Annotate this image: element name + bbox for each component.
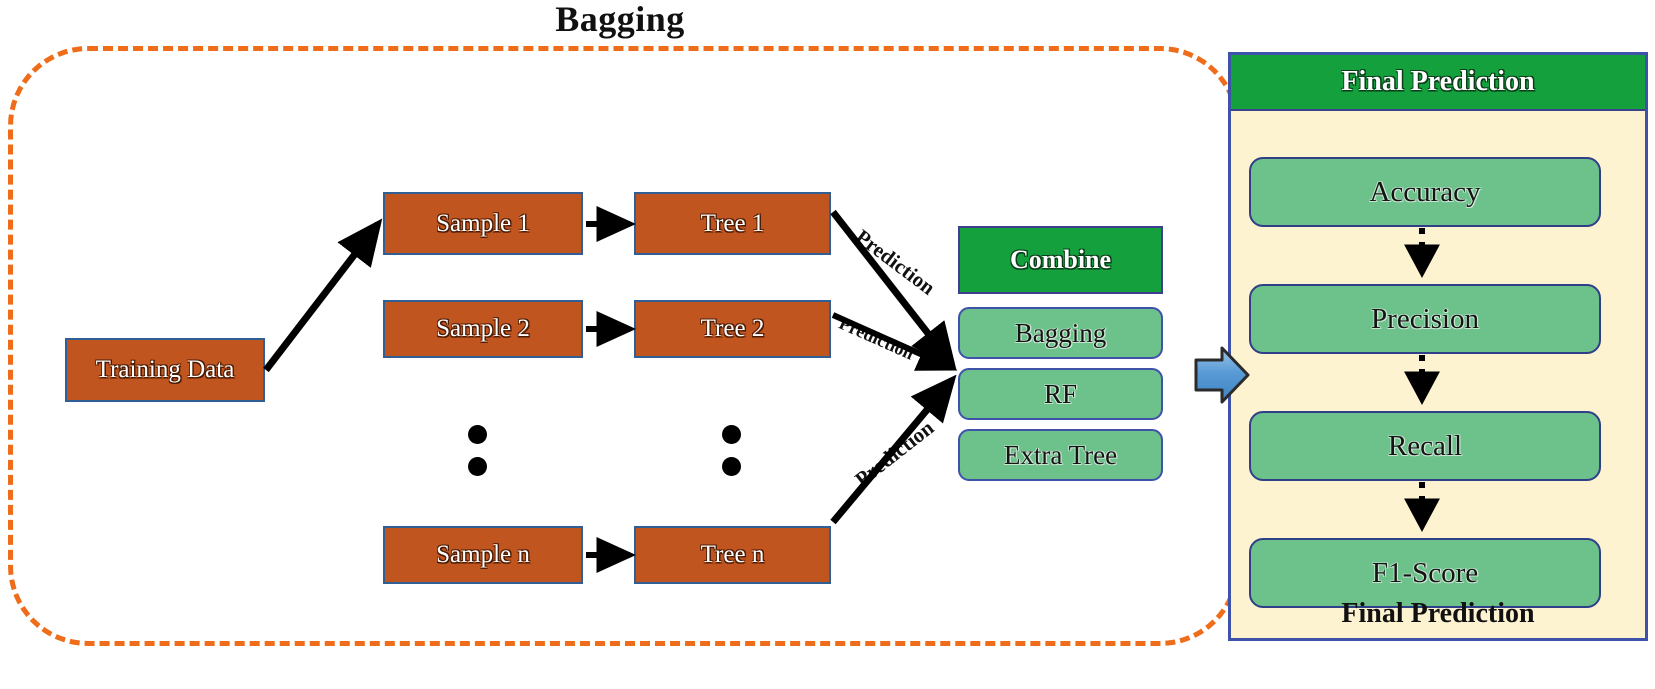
node-sample-2-label: Sample 2 [436,315,530,343]
ellipsis-dot-tree-1 [722,425,741,444]
page-title: Bagging [0,0,1240,40]
final-prediction-panel: Final Prediction Accuracy Precision Reca… [1228,52,1648,641]
node-sample-2[interactable]: Sample 2 [383,300,583,358]
node-combine-header-label: Combine [1010,245,1111,275]
node-tree-1-label: Tree 1 [701,210,765,238]
final-prediction-header-label: Final Prediction [1341,66,1534,98]
final-prediction-header: Final Prediction [1231,55,1645,111]
node-model-bagging-label: Bagging [1015,318,1107,349]
metric-precision[interactable]: Precision [1249,284,1601,354]
metric-recall[interactable]: Recall [1249,411,1601,481]
node-model-rf[interactable]: RF [958,368,1163,420]
node-sample-n-label: Sample n [436,541,530,569]
node-tree-n[interactable]: Tree n [634,526,831,584]
node-sample-n[interactable]: Sample n [383,526,583,584]
node-model-rf-label: RF [1044,379,1077,410]
node-tree-1[interactable]: Tree 1 [634,192,831,255]
node-model-bagging[interactable]: Bagging [958,307,1163,359]
node-training-data-label: Training Data [96,356,235,384]
diagram-canvas: Bagging Training Data Sample 1 Sample 2 … [0,0,1655,689]
ellipsis-dot-tree-2 [722,457,741,476]
node-model-extra-tree[interactable]: Extra Tree [958,429,1163,481]
ellipsis-dot-sample-2 [468,457,487,476]
node-tree-2-label: Tree 2 [701,315,765,343]
final-prediction-footer: Final Prediction [1231,598,1645,630]
ellipsis-dot-sample-1 [468,425,487,444]
metric-f1-score-label: F1-Score [1372,557,1478,590]
node-tree-n-label: Tree n [701,541,765,569]
node-tree-2[interactable]: Tree 2 [634,300,831,358]
node-sample-1[interactable]: Sample 1 [383,192,583,255]
node-combine-header[interactable]: Combine [958,226,1163,294]
metric-precision-label: Precision [1371,303,1479,336]
node-sample-1-label: Sample 1 [436,210,530,238]
node-training-data[interactable]: Training Data [65,338,265,402]
node-model-extra-tree-label: Extra Tree [1004,440,1117,471]
metric-accuracy[interactable]: Accuracy [1249,157,1601,227]
metric-accuracy-label: Accuracy [1369,176,1480,209]
metric-recall-label: Recall [1388,430,1462,463]
